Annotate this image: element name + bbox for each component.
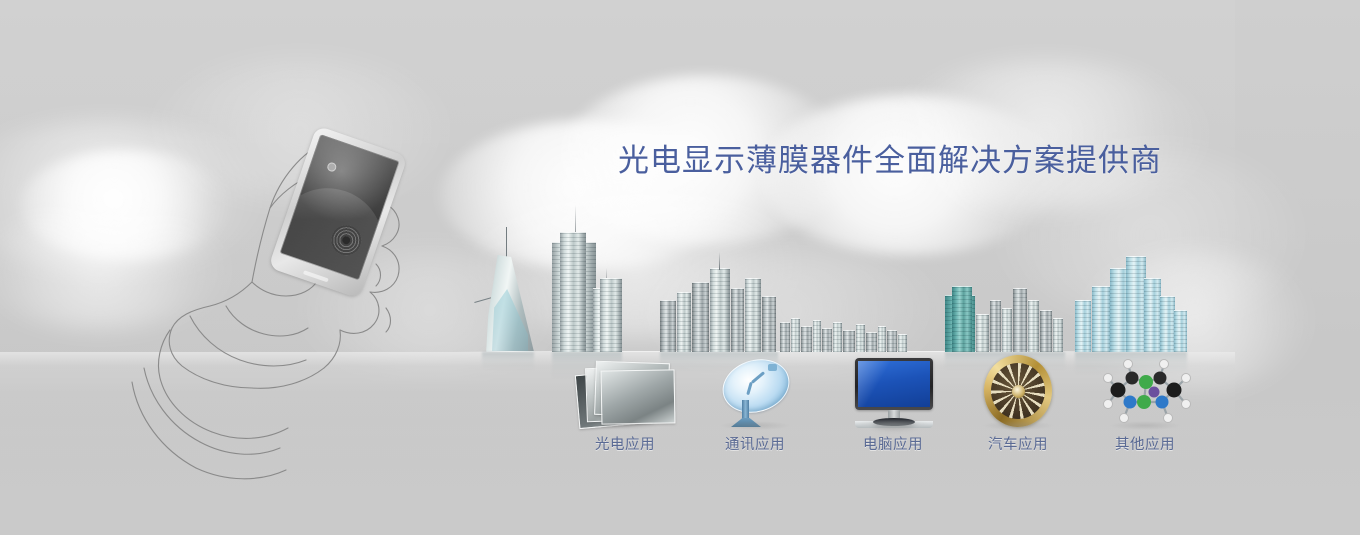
- application-item-communication[interactable]: 通讯应用: [690, 352, 820, 454]
- application-item-automotive[interactable]: 汽车应用: [953, 352, 1083, 454]
- skyscraper: [1174, 310, 1187, 352]
- low-rise-building: [801, 326, 812, 352]
- skyscraper: [1160, 296, 1175, 352]
- alloy-wheel-icon: [953, 352, 1083, 432]
- low-rise-building: [833, 322, 842, 352]
- application-label: 通讯应用: [690, 436, 820, 454]
- skyscraper: [745, 278, 761, 352]
- skyscraper: [1126, 256, 1146, 352]
- skyscraper: [560, 232, 586, 352]
- low-rise-building: [898, 334, 907, 352]
- phone-camera-icon: [326, 161, 337, 172]
- skyscraper: [1002, 308, 1012, 352]
- skyscraper: [1144, 278, 1161, 352]
- application-label: 光电应用: [560, 436, 690, 454]
- application-label: 汽车应用: [953, 436, 1083, 454]
- low-rise-building: [780, 322, 790, 352]
- skyscraper: [1075, 300, 1091, 352]
- application-label: 其他应用: [1080, 436, 1210, 454]
- application-label: 电脑应用: [828, 436, 958, 454]
- skyscraper: [677, 292, 691, 352]
- skyscraper: [1053, 318, 1063, 352]
- skyscraper: [731, 288, 744, 352]
- low-rise-building: [791, 318, 800, 352]
- computer-monitor-icon: [828, 352, 958, 432]
- skyscraper: [1013, 288, 1027, 352]
- low-rise-building: [856, 324, 865, 352]
- skyscraper: [762, 296, 776, 352]
- low-rise-building: [822, 328, 832, 352]
- satellite-dish-icon: [690, 352, 820, 432]
- phone-home-button: [303, 270, 329, 282]
- hero-banner: 光电显示薄膜器件全面解决方案提供商 光电应用: [0, 0, 1360, 535]
- page-title: 光电显示薄膜器件全面解决方案提供商: [618, 140, 1162, 182]
- skyscraper: [1092, 286, 1110, 352]
- skyscraper: [710, 268, 730, 352]
- low-rise-building: [813, 320, 821, 352]
- skyscraper: [1028, 300, 1039, 352]
- application-icon-row: 光电应用 通讯应用: [0, 352, 1235, 472]
- molecule-model-icon: [1080, 352, 1210, 432]
- sail-tower-building: [482, 255, 534, 352]
- skyscraper: [692, 282, 709, 352]
- skyscraper: [1040, 310, 1052, 352]
- application-item-optoelectronic[interactable]: 光电应用: [560, 352, 690, 454]
- skyscraper: [990, 300, 1001, 352]
- skyscraper: [952, 286, 972, 352]
- glass-panel-stack-icon: [560, 352, 690, 432]
- application-item-computer[interactable]: 电脑应用: [828, 352, 958, 454]
- application-item-other[interactable]: 其他应用: [1080, 352, 1210, 454]
- skyscraper: [660, 300, 676, 352]
- low-rise-building: [878, 326, 886, 352]
- tower-spire: [719, 252, 720, 270]
- low-rise-building: [843, 330, 855, 352]
- skyscraper: [976, 314, 989, 352]
- skyscraper: [600, 278, 622, 352]
- low-rise-building: [887, 330, 897, 352]
- low-rise-building: [866, 332, 877, 352]
